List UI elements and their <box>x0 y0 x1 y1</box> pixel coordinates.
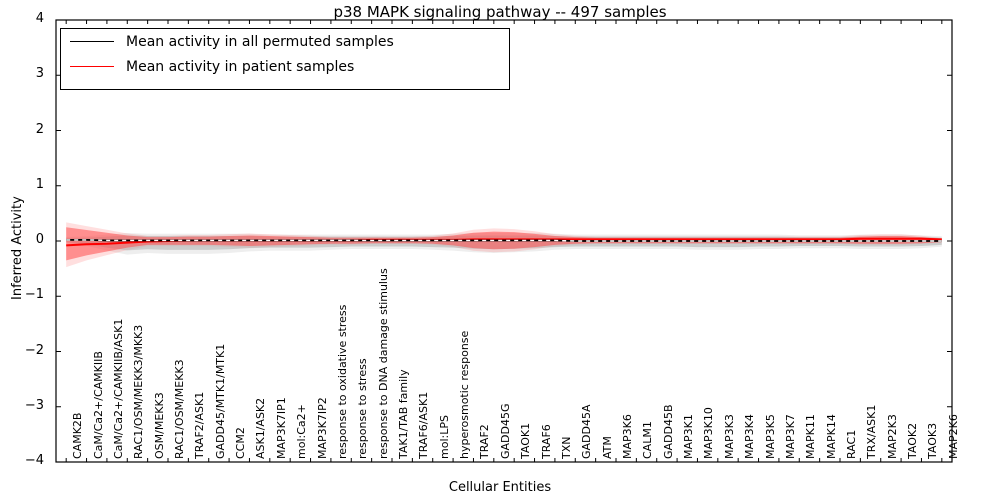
x-tick-label: TAOK2 <box>906 423 919 459</box>
x-tick-label: response to oxidative stress <box>336 305 349 459</box>
x-tick-label: OSM/MEKK3 <box>153 392 166 459</box>
x-tick-label: response to DNA damage stimulus <box>377 268 390 459</box>
y-tick-label: −1 <box>8 290 44 300</box>
x-tick-label: TRAF6/ASK1 <box>417 392 430 459</box>
x-tick-label: MAP3K1 <box>682 414 695 459</box>
x-tick-label: TXN <box>560 437 573 459</box>
x-tick-label: response to stress <box>356 358 369 459</box>
x-tick-label: TAOK3 <box>926 423 939 459</box>
x-tick-label: GADD45B <box>662 404 675 459</box>
x-tick-label: CaM/Ca2+/CAMKIIB/ASK1 <box>112 319 125 459</box>
x-tick-label: TRX/ASK1 <box>865 405 878 459</box>
x-tick-label: RAC1/OSM/MEKK3/MKK3 <box>132 325 145 459</box>
x-tick-label: MAP3K7 <box>784 414 797 459</box>
x-tick-label: MAPK11 <box>804 414 817 459</box>
x-tick-label: RAC1/OSM/MEKK3 <box>173 359 186 459</box>
y-axis-title: Inferred Activity <box>10 196 25 300</box>
x-tick-label: mol:Ca2+ <box>295 404 308 459</box>
y-tick-label: 1 <box>8 180 44 190</box>
x-tick-label: ATM <box>601 436 614 459</box>
y-tick-label: 3 <box>8 69 44 79</box>
x-tick-label: hyperosmotic response <box>458 331 471 459</box>
x-tick-label: TAK1/TAB family <box>397 369 410 459</box>
x-tick-label: CAMK2B <box>71 413 84 459</box>
x-tick-label: GADD45/MTK1/MTK1 <box>214 344 227 459</box>
x-tick-label: MAP3K5 <box>764 414 777 459</box>
x-tick-label: MAP2K6 <box>947 414 960 459</box>
x-tick-label: TRAF2 <box>478 424 491 459</box>
legend-label: Mean activity in all permuted samples <box>126 34 394 50</box>
x-tick-label: ASK1/ASK2 <box>254 398 267 459</box>
y-tick-label: 2 <box>8 125 44 135</box>
x-tick-label: TRAF2/ASK1 <box>193 392 206 459</box>
x-tick-label: MAP3K4 <box>743 414 756 459</box>
y-tick-label: −3 <box>8 401 44 411</box>
x-tick-label: mol:LPS <box>438 415 451 459</box>
x-tick-label: CaM/Ca2+/CAMKIIB <box>92 351 105 459</box>
x-tick-label: MAP3K6 <box>621 414 634 459</box>
x-tick-label: MAPK14 <box>825 414 838 459</box>
y-tick-label: 0 <box>8 235 44 245</box>
y-tick-label: −4 <box>8 456 44 466</box>
x-tick-label: MAP2K3 <box>886 414 899 459</box>
x-tick-label: GADD45A <box>580 404 593 459</box>
x-tick-label: TRAF6 <box>540 424 553 459</box>
x-tick-label: CCM2 <box>234 427 247 459</box>
legend-line-swatch <box>70 66 114 67</box>
x-tick-label: MAP3K3 <box>723 414 736 459</box>
legend-entry: Mean activity in patient samples <box>61 54 509 79</box>
y-tick-label: 4 <box>8 14 44 24</box>
x-tick-label: MAP3K7IP1 <box>275 397 288 459</box>
x-tick-label: TAOK1 <box>519 423 532 459</box>
x-tick-label: MAP3K7IP2 <box>316 397 329 459</box>
figure-canvas: p38 MAPK signaling pathway -- 497 sample… <box>0 0 1000 500</box>
legend-entry: Mean activity in all permuted samples <box>61 29 509 54</box>
x-tick-label: MAP3K10 <box>702 407 715 459</box>
legend-line-swatch <box>70 41 114 42</box>
x-tick-label: CALM1 <box>641 421 654 459</box>
chart-title: p38 MAPK signaling pathway -- 497 sample… <box>0 2 1000 22</box>
x-axis-title: Cellular Entities <box>0 480 1000 495</box>
x-tick-label: RAC1 <box>845 430 858 459</box>
y-tick-label: −2 <box>8 346 44 356</box>
x-tick-label: GADD45G <box>499 403 512 459</box>
legend-label: Mean activity in patient samples <box>126 59 354 75</box>
chart-legend: Mean activity in all permuted samplesMea… <box>60 28 510 90</box>
